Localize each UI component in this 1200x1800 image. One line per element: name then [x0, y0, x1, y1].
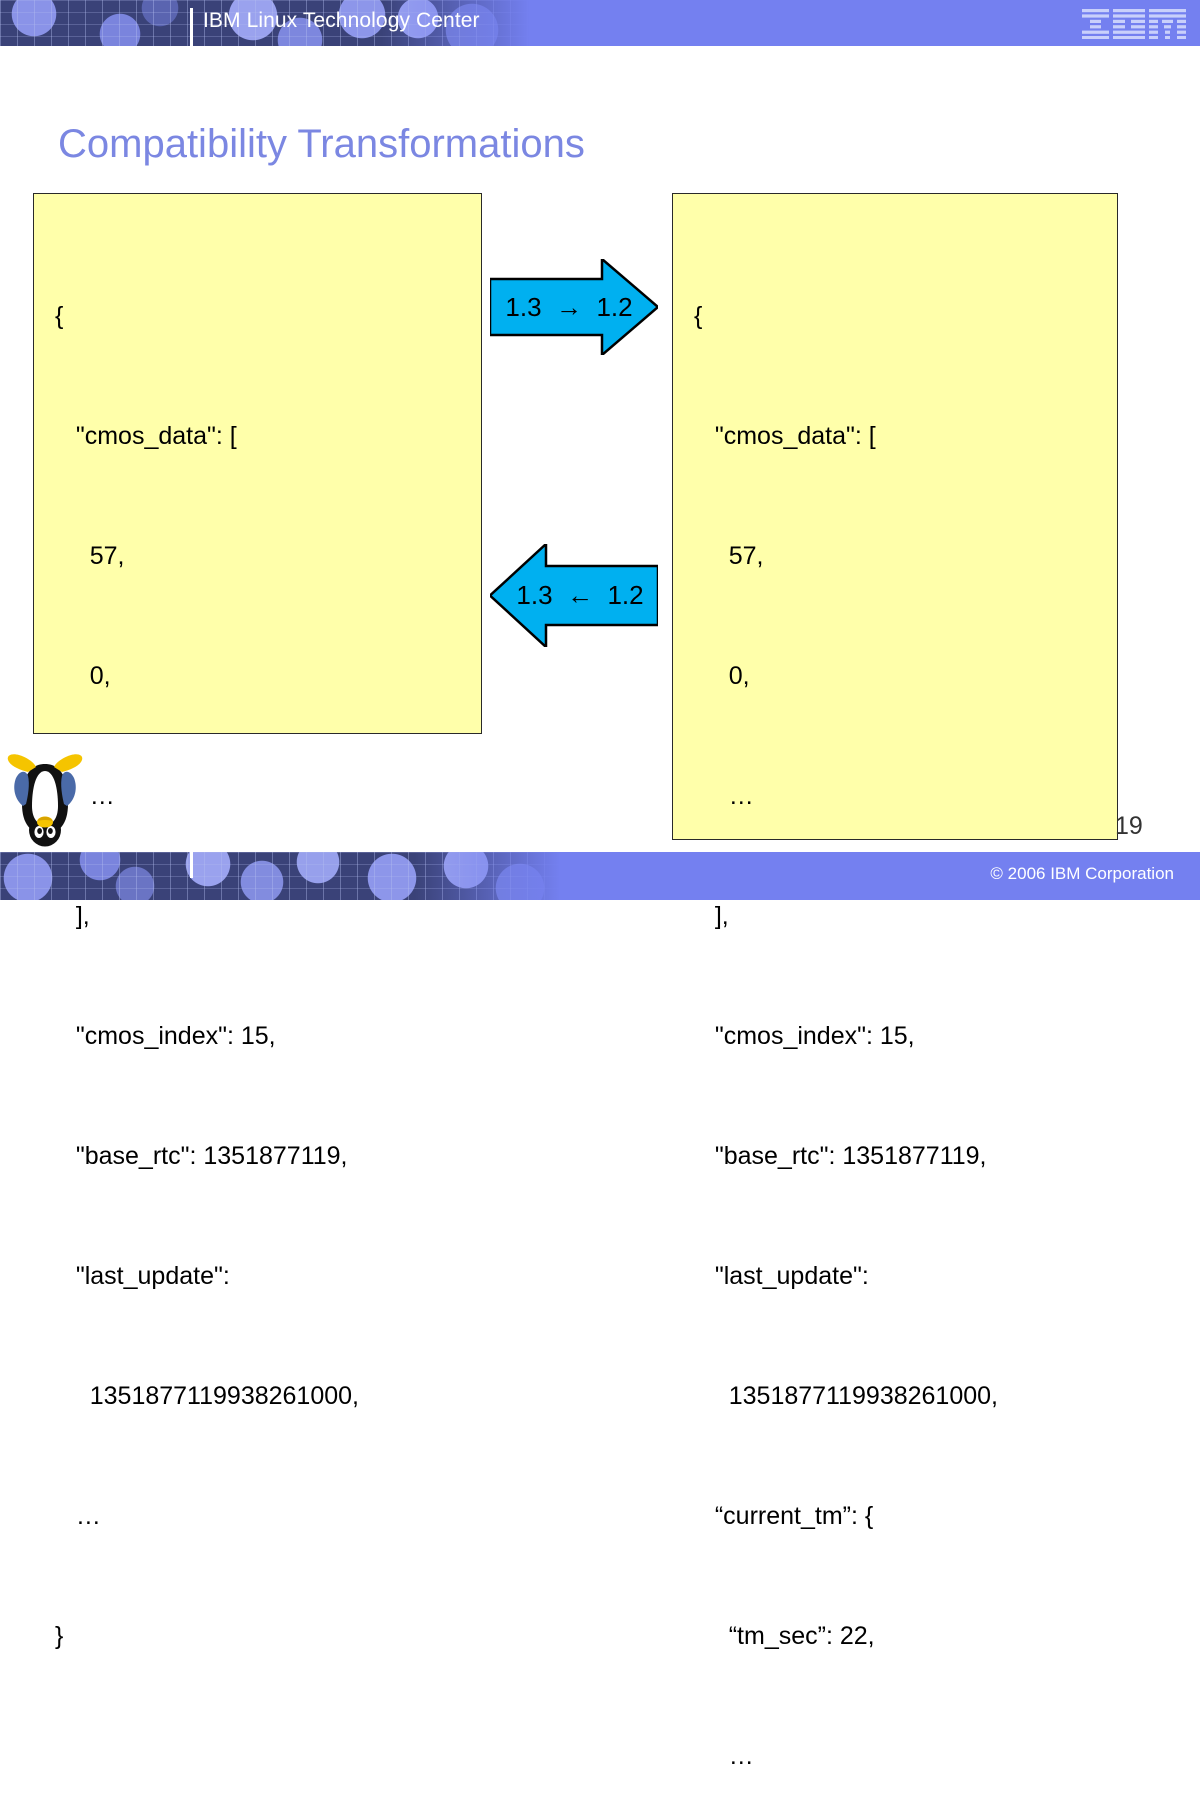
json-before-box: { "cmos_data": [ 57, 0, … ], "cmos_index…	[33, 193, 482, 734]
code-line: …	[694, 776, 998, 816]
code-line: “current_tm”: {	[694, 1496, 998, 1536]
code-line: "cmos_index": 15,	[694, 1016, 998, 1056]
code-line: "cmos_data": [	[55, 416, 359, 456]
page-title: Compatibility Transformations	[58, 122, 585, 167]
json-after-box: { "cmos_data": [ 57, 0, … ], "cmos_index…	[672, 193, 1118, 840]
footer-copyright: © 2006 IBM Corporation	[990, 864, 1174, 884]
header-divider	[190, 8, 193, 46]
code-line: 57,	[694, 536, 998, 576]
code-line: ],	[55, 896, 359, 936]
json-after-content: { "cmos_data": [ 57, 0, … ], "cmos_index…	[694, 216, 998, 1800]
ibm-logo-icon	[1082, 9, 1186, 39]
code-line: {	[55, 296, 359, 336]
code-line: 0,	[55, 656, 359, 696]
footer-band: © 2006 IBM Corporation	[0, 852, 1200, 900]
code-line: {	[694, 296, 998, 336]
code-line: 1351877119938261000,	[55, 1376, 359, 1416]
code-line: }	[55, 1616, 359, 1656]
code-line: 0,	[694, 656, 998, 696]
code-line: "last_update":	[694, 1256, 998, 1296]
code-line: “tm_sec”: 22,	[694, 1616, 998, 1656]
transform-forward-arrow: 1.3 → 1.2	[490, 259, 658, 355]
code-line: "cmos_index": 15,	[55, 1016, 359, 1056]
slide-number: 19	[1115, 812, 1143, 841]
tux-penguin-icon	[6, 752, 84, 850]
code-line: ],	[694, 896, 998, 936]
arrow-forward-label: 1.3 → 1.2	[480, 292, 658, 323]
footer-decorative-pattern	[0, 852, 560, 900]
header-title: IBM Linux Technology Center	[203, 9, 480, 33]
code-line: "base_rtc": 1351877119,	[694, 1136, 998, 1176]
header-band: IBM Linux Technology Center	[0, 0, 1200, 46]
transform-back-arrow: 1.3 ← 1.2	[490, 544, 658, 647]
code-line: …	[55, 776, 359, 816]
arrow-back-label: 1.3 ← 1.2	[502, 580, 658, 611]
code-line: "base_rtc": 1351877119,	[55, 1136, 359, 1176]
json-before-content: { "cmos_data": [ 57, 0, … ], "cmos_index…	[55, 216, 359, 1736]
footer-divider	[190, 852, 193, 878]
code-line: 1351877119938261000,	[694, 1376, 998, 1416]
code-line: …	[694, 1736, 998, 1776]
code-line: …	[55, 1496, 359, 1536]
code-line: 57,	[55, 536, 359, 576]
footer-pattern-fade	[0, 852, 560, 900]
code-line: "cmos_data": [	[694, 416, 998, 456]
code-line: "last_update":	[55, 1256, 359, 1296]
